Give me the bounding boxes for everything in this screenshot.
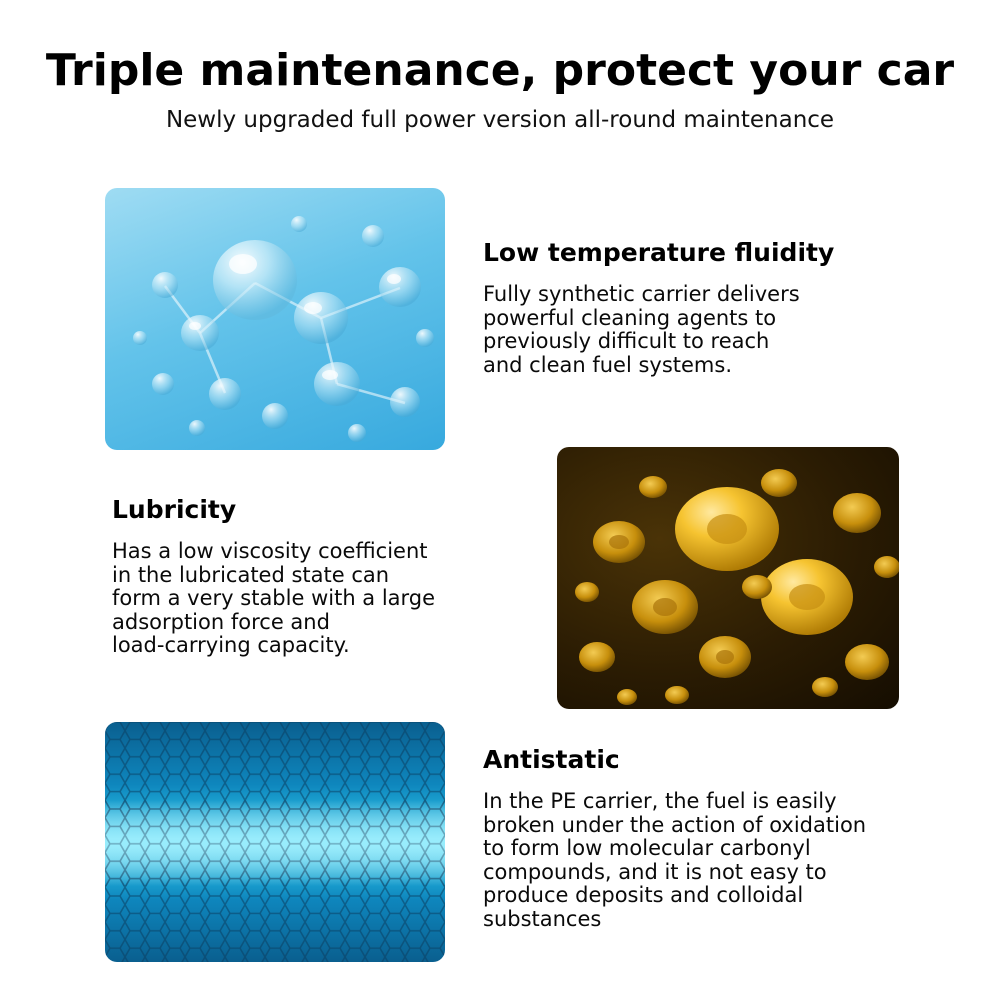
feature-text-antistatic: Antistatic In the PE carrier, the fuel i… [483,745,923,931]
feature-title-low-temperature-fluidity: Low temperature fluidity [483,238,903,267]
golden-cells-artwork [557,447,899,709]
feature-title-antistatic: Antistatic [483,745,923,774]
feature-body-low-temperature-fluidity: Fully synthetic carrier delivers powerfu… [483,283,903,377]
feature-body-antistatic: In the PE carrier, the fuel is easily br… [483,790,923,931]
page-header: Triple maintenance, protect your car New… [0,0,1000,133]
feature-title-lubricity: Lubricity [112,495,512,524]
blue-hexagon-mesh-image [105,722,445,962]
molecule-water-droplets-image [105,188,445,450]
feature-body-lubricity: Has a low viscosity coefficient in the l… [112,540,512,658]
page-title: Triple maintenance, protect your car [0,48,1000,94]
hexagon-mesh-artwork [105,722,445,962]
page-subtitle: Newly upgraded full power version all-ro… [0,108,1000,133]
promo-page: Triple maintenance, protect your car New… [0,0,1000,1000]
feature-text-low-temperature-fluidity: Low temperature fluidity Fully synthetic… [483,238,903,377]
golden-oil-cells-image [557,447,899,709]
molecule-artwork [105,188,445,450]
feature-text-lubricity: Lubricity Has a low viscosity coefficien… [112,495,512,658]
